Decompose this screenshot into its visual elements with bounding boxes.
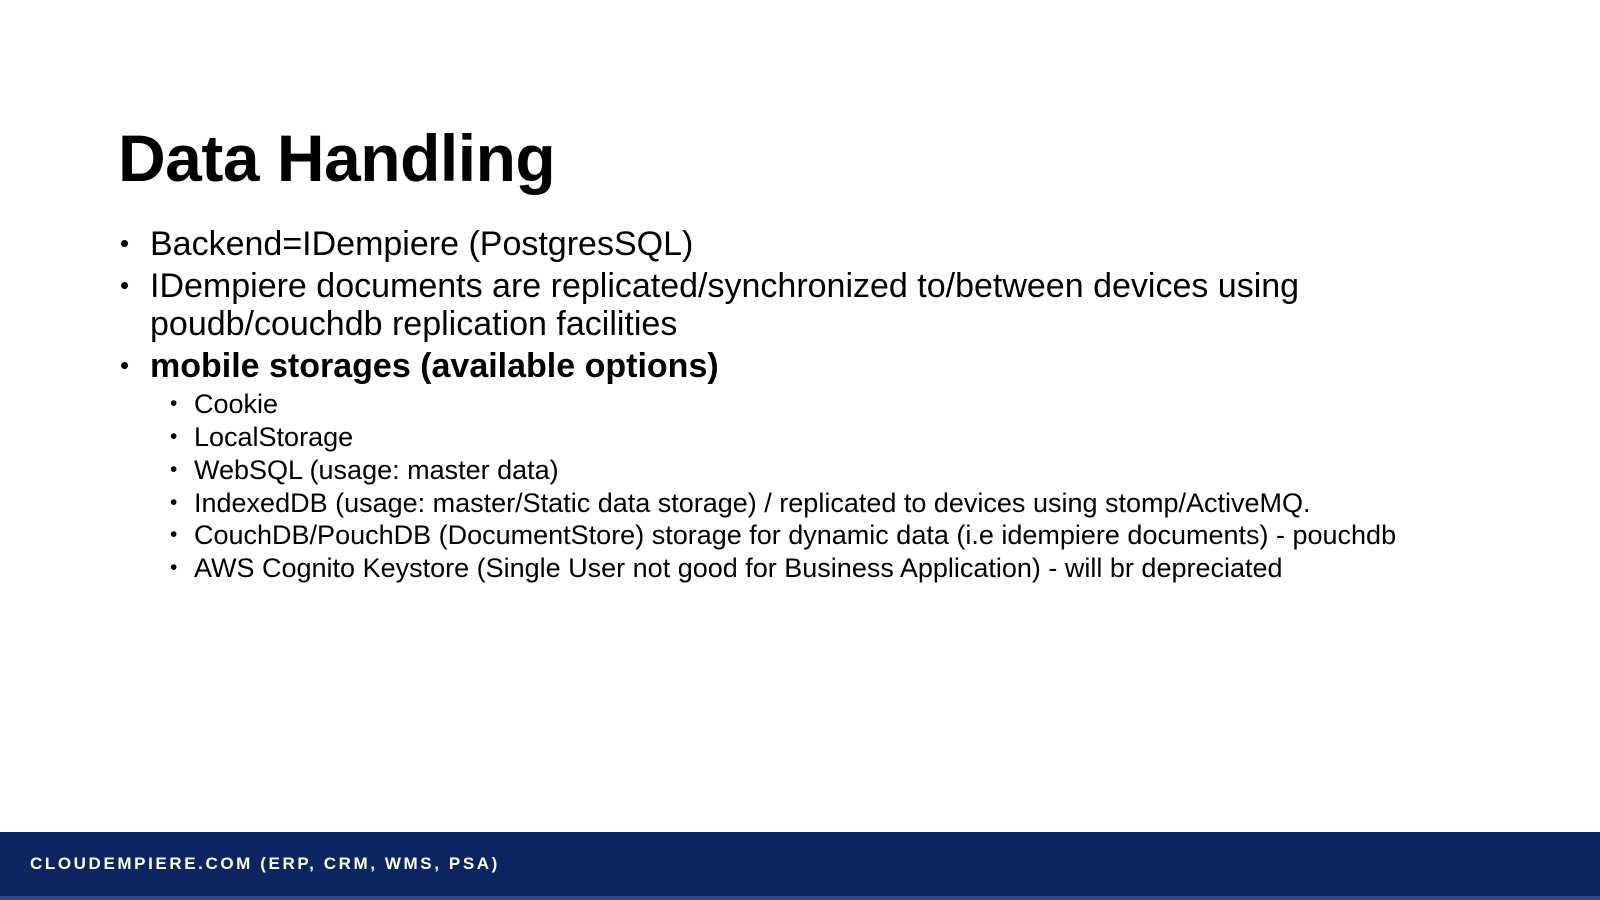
sub-bullet-item: AWS Cognito Keystore (Single User not go… [150,553,1510,584]
bullet-text: mobile storages (available options) [150,347,1510,385]
bullet-list: Backend=IDempiere (PostgresSQL) IDempier… [110,225,1510,584]
sub-bullet-list: Cookie LocalStorage WebSQL (usage: maste… [150,389,1510,584]
bullet-item: IDempiere documents are replicated/synch… [110,267,1510,343]
bullet-text: Backend=IDempiere (PostgresSQL) [150,225,1510,263]
sub-bullet-item: CouchDB/PouchDB (DocumentStore) storage … [150,520,1510,551]
bullet-item: Backend=IDempiere (PostgresSQL) [110,225,1510,263]
slide: Data Handling Backend=IDempiere (Postgre… [0,0,1600,900]
slide-body: Backend=IDempiere (PostgresSQL) IDempier… [110,225,1510,588]
footer-text: CLOUDEMPIERE.COM (ERP, CRM, WMS, PSA) [30,854,500,874]
page-title: Data Handling [118,124,1498,193]
bullet-item: mobile storages (available options) Cook… [110,347,1510,584]
footer-bottom-rule [0,896,1600,900]
sub-bullet-item: WebSQL (usage: master data) [150,455,1510,486]
sub-bullet-item: LocalStorage [150,422,1510,453]
sub-bullet-item: IndexedDB (usage: master/Static data sto… [150,488,1510,519]
slide-footer: CLOUDEMPIERE.COM (ERP, CRM, WMS, PSA) [0,832,1600,896]
sub-bullet-item: Cookie [150,389,1510,420]
bullet-text: IDempiere documents are replicated/synch… [150,267,1510,343]
